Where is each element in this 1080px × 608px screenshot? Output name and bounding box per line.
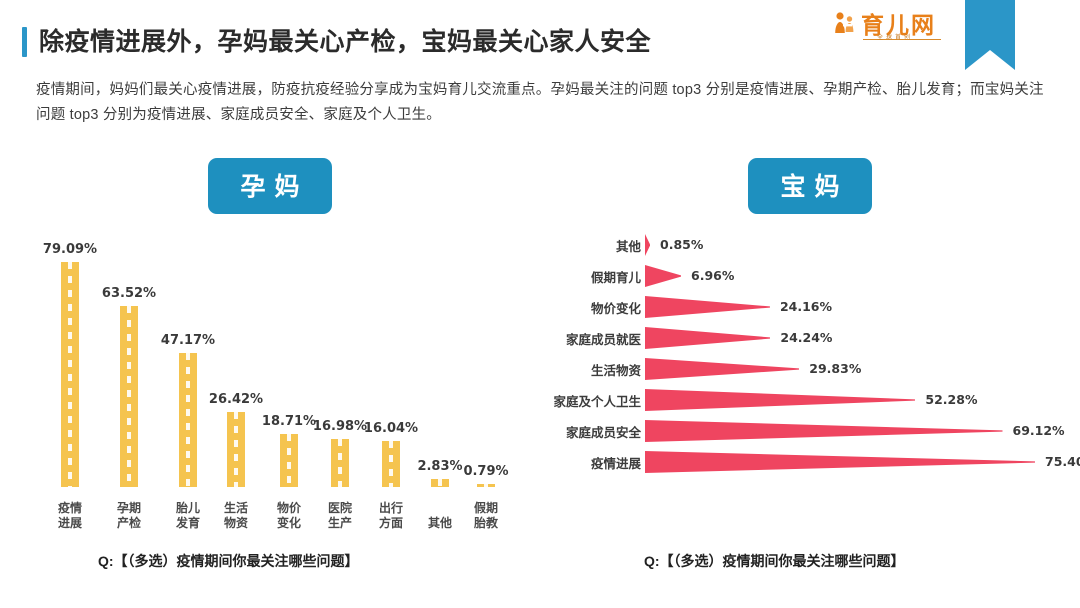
bar-category-label: 疫情进展 [58, 501, 82, 531]
bar-value-label: 18.71% [262, 414, 316, 429]
bar-category-label: 生活物资 [224, 501, 248, 531]
bar-shape [61, 262, 79, 487]
bar-value-label: 2.83% [417, 459, 462, 474]
wedge-category-label: 家庭及个人卫生 [511, 391, 641, 410]
bar-shape [431, 479, 449, 487]
bar-value-label: 16.04% [364, 421, 418, 436]
wedge-shape [645, 389, 915, 411]
bar-value-label: 79.09% [43, 242, 97, 257]
wedge-shape [645, 451, 1035, 473]
caption-left: Q:【（多选）疫情期间你最关注哪些问题】 [98, 551, 359, 571]
bar-category-label: 孕期产检 [117, 501, 141, 531]
bar-shape [382, 441, 400, 487]
wedge-shape [645, 296, 770, 318]
bar-shape [280, 434, 298, 487]
chart-pregnant-moms: 79.09%疫情进展63.52%孕期产检47.17%胎儿发育26.42%生活物资… [0, 225, 540, 535]
chart-new-moms: 其他0.85%假期育儿6.96%物价变化24.16%家庭成员就医24.24%生活… [556, 232, 1080, 500]
bar-shape [227, 412, 245, 487]
bar-value-label: 26.42% [209, 392, 263, 407]
wedge-value-label: 6.96% [691, 268, 734, 283]
wedge-value-label: 24.24% [780, 330, 832, 345]
wedge-value-label: 52.28% [925, 392, 977, 407]
wedge-value-label: 75.40% [1045, 454, 1080, 469]
bar-value-label: 0.79% [463, 464, 508, 479]
bar-category-label: 出行方面 [379, 501, 403, 531]
bar-value-label: 16.98% [313, 419, 367, 434]
wedge-shape [645, 327, 770, 349]
bar-category-label: 胎儿发育 [176, 501, 200, 531]
wedge-shape [645, 265, 681, 287]
wedge-value-label: 29.83% [809, 361, 861, 376]
bar-shape [477, 484, 495, 487]
wedge-value-label: 0.85% [660, 237, 703, 252]
bar-value-label: 47.17% [161, 333, 215, 348]
title-accent-bar [22, 27, 27, 57]
wedge-row: 疫情进展75.40% [556, 449, 1080, 475]
wedge-row: 其他0.85% [556, 232, 1080, 258]
wedge-row: 家庭及个人卫生52.28% [556, 387, 1080, 413]
wedge-category-label: 物价变化 [511, 298, 641, 317]
ribbon-decoration [965, 0, 1015, 75]
wedge-row: 假期育儿6.96% [556, 263, 1080, 289]
wedge-row: 家庭成员就医24.24% [556, 325, 1080, 351]
page-subtitle: 疫情期间，妈妈们最关心疫情进展，防疫抗疫经验分享成为宝妈育儿交流重点。孕妈最关注… [36, 78, 1046, 128]
bar-shape [331, 439, 349, 487]
wedge-value-label: 69.12% [1013, 423, 1065, 438]
wedge-category-label: 疫情进展 [511, 453, 641, 472]
wedge-row: 生活物资29.83% [556, 356, 1080, 382]
wedge-category-label: 家庭成员安全 [511, 422, 641, 441]
wedge-category-label: 其他 [511, 236, 641, 255]
wedge-shape [645, 420, 1003, 442]
wedge-value-label: 24.16% [780, 299, 832, 314]
title-row: 除疫情进展外，孕妈最关心产检，宝妈最关心家人安全 [22, 27, 651, 57]
bar-value-label: 63.52% [102, 286, 156, 301]
wedge-category-label: 家庭成员就医 [511, 329, 641, 348]
bar-category-label: 物价变化 [277, 501, 301, 531]
wedge-row: 物价变化24.16% [556, 294, 1080, 320]
caption-right: Q:【（多选）疫情期间你最关注哪些问题】 [644, 551, 905, 571]
bar-category-label: 假期胎教 [474, 501, 498, 531]
logo-tagline: 全球首创 [877, 32, 913, 41]
badge-new-moms: 宝妈 [748, 158, 872, 214]
wedge-row: 家庭成员安全69.12% [556, 418, 1080, 444]
bar-category-label: 医院生产 [328, 501, 352, 531]
bar-shape [179, 353, 197, 487]
wedge-category-label: 生活物资 [511, 360, 641, 379]
parent-child-icon [833, 10, 859, 41]
bar-category-label: 其他 [428, 516, 452, 531]
wedge-shape [645, 234, 650, 256]
wedge-category-label: 假期育儿 [511, 267, 641, 286]
bar-shape [120, 306, 138, 487]
wedge-shape [645, 358, 799, 380]
site-logo[interactable]: 育儿网 全球首创 [833, 6, 953, 46]
page-title: 除疫情进展外，孕妈最关心产检，宝妈最关心家人安全 [39, 30, 651, 55]
badge-pregnant-moms: 孕妈 [208, 158, 332, 214]
